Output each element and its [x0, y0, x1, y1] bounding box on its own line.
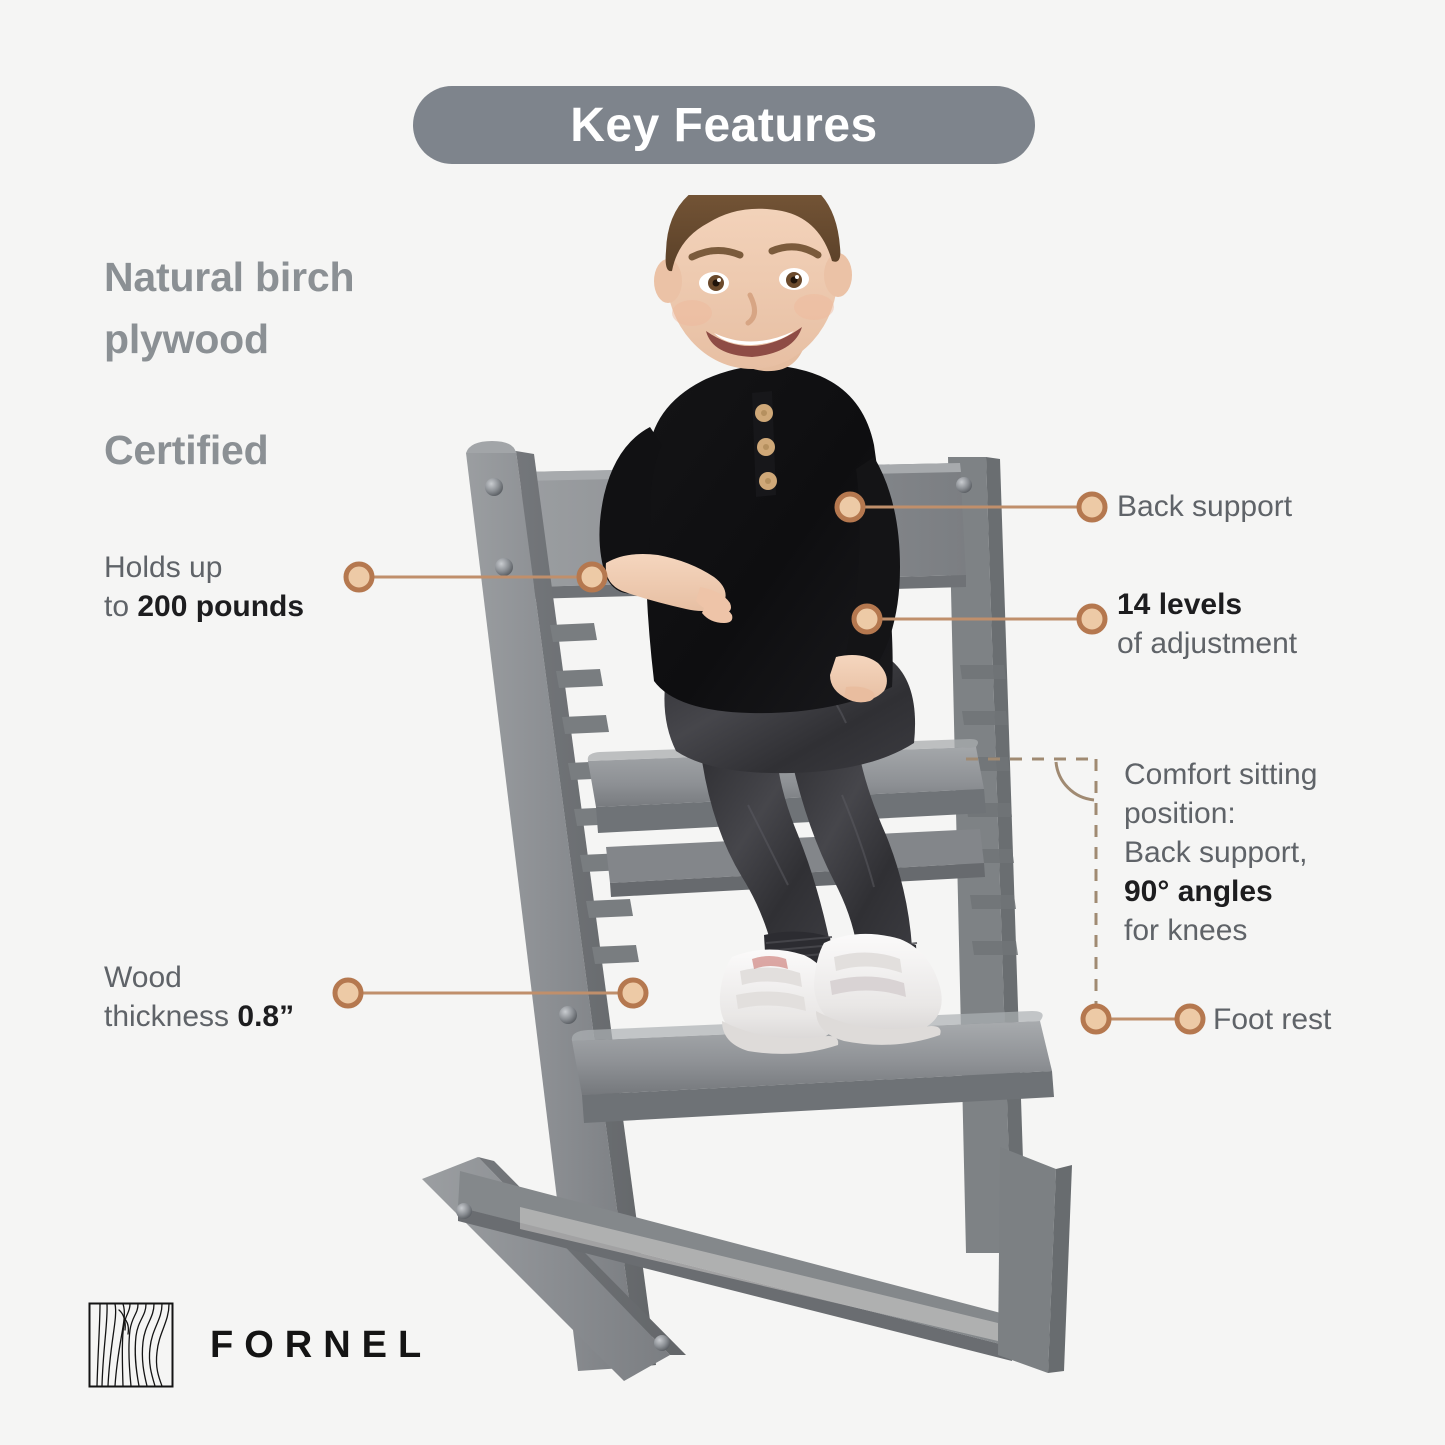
callout-foot-rest-label: Foot rest	[1213, 1000, 1331, 1039]
wood-prefix: thickness	[104, 1000, 237, 1033]
dot-foot-rest-text	[1177, 1006, 1203, 1032]
callout-comfort-line4: 90° angles	[1124, 872, 1317, 911]
levels-value: 14 levels	[1117, 588, 1242, 621]
wood-value: 0.8”	[237, 1000, 294, 1033]
callout-levels: 14 levels of adjustment	[1117, 585, 1297, 663]
callout-back-support-label: Back support	[1117, 487, 1292, 526]
callout-wood-line2: thickness 0.8”	[104, 997, 484, 1036]
holds-up-value: 200 pounds	[137, 590, 304, 623]
callout-holds-up: Holds up to 200 pounds	[104, 548, 484, 626]
callout-levels-line2: of adjustment	[1117, 624, 1297, 663]
callout-levels-line1: 14 levels	[1117, 585, 1297, 624]
comfort-angle-value: 90° angles	[1124, 875, 1273, 908]
callout-holds-up-line2: to 200 pounds	[104, 587, 484, 626]
callout-back-support: Back support	[1117, 487, 1292, 526]
wood-grain-square-icon	[88, 1302, 174, 1388]
key-features-title-pill: Key Features	[413, 86, 1035, 164]
callout-comfort-line3: Back support,	[1124, 833, 1317, 872]
callout-comfort-line2: position:	[1124, 794, 1317, 833]
callout-holds-up-line1: Holds up	[104, 548, 484, 587]
callout-wood-thickness: Wood thickness 0.8”	[104, 958, 484, 1036]
brand-logo: FORNEL	[88, 1302, 432, 1388]
page-title: Key Features	[570, 98, 877, 153]
callout-foot-rest: Foot rest	[1213, 1000, 1331, 1039]
product-photo	[400, 195, 1100, 1385]
brand-wordmark: FORNEL	[210, 1324, 432, 1367]
callout-comfort-line1: Comfort sitting	[1124, 755, 1317, 794]
holds-up-prefix: to	[104, 590, 137, 623]
callout-comfort-position: Comfort sitting position: Back support, …	[1124, 755, 1317, 950]
callout-comfort-line5: for knees	[1124, 911, 1317, 950]
callout-wood-line1: Wood	[104, 958, 484, 997]
